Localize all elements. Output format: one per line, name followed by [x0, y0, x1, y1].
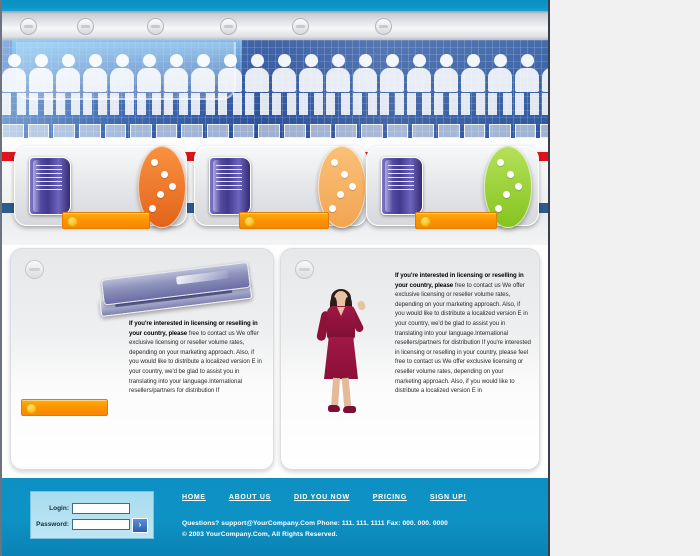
bullet-icon [26, 403, 37, 414]
top-toolbar [2, 11, 548, 41]
hero-box-row [2, 124, 548, 138]
product-cta-button-2[interactable] [239, 212, 329, 229]
panel-left-cta-button[interactable] [21, 399, 108, 416]
person-silhouette [488, 54, 512, 115]
woman-shoe-right [343, 406, 356, 413]
woman-leg-right [342, 378, 352, 408]
woman-shoe-left [328, 405, 340, 412]
login-row: Login: [35, 502, 130, 514]
footer-nav-link-1[interactable]: HOME [182, 494, 206, 501]
laptop-image [97, 262, 251, 324]
person-silhouette [461, 54, 485, 115]
panel-handle-icon[interactable] [25, 260, 44, 279]
website-frame: If you're interested in licensing or res… [0, 0, 550, 556]
page-root: If you're interested in licensing or res… [0, 0, 700, 556]
left-edge-border [0, 0, 2, 556]
woman-hand [357, 300, 367, 311]
person-silhouette [515, 54, 539, 115]
password-row: Password: [35, 518, 130, 530]
hero-box [335, 124, 357, 138]
panel-left-body: free to contact us We offer exclusive li… [129, 330, 262, 395]
panel-right-body: free to contact us We offer exclusive li… [395, 282, 531, 395]
site-footer: Login: Password: › HOMEABOUT USDID YOU N… [2, 478, 548, 556]
toolbar-button-1[interactable] [20, 18, 37, 35]
hero-box [53, 124, 75, 138]
hero-box [233, 124, 255, 138]
login-input[interactable] [72, 503, 130, 514]
businesswoman-image [311, 291, 371, 417]
hero-box [105, 124, 127, 138]
panel-right-text: If you're interested in licensing or res… [395, 271, 531, 396]
woman-leg-left [331, 378, 340, 408]
person-silhouette [353, 54, 377, 115]
product-cta-button-3[interactable] [415, 212, 497, 229]
bullet-icon [244, 216, 255, 227]
person-silhouette [407, 54, 431, 115]
person-silhouette [245, 54, 269, 115]
footer-nav: HOMEABOUT USDID YOU NOWPRICINGSIGN UP! [182, 494, 467, 501]
person-silhouette [272, 54, 296, 115]
hero-box [130, 124, 152, 138]
toolbar-button-2[interactable] [77, 18, 94, 35]
hero-box [28, 124, 50, 138]
hero-box [258, 124, 280, 138]
hero-box [515, 124, 537, 138]
hero-box [540, 124, 548, 138]
login-submit-button[interactable]: › [132, 518, 148, 533]
footer-nav-link-3[interactable]: DID YOU NOW [294, 494, 350, 501]
hero-box [181, 124, 203, 138]
hero-box [464, 124, 486, 138]
product-cta-button-1[interactable] [62, 212, 150, 229]
hero-box [79, 124, 101, 138]
server-image [209, 157, 251, 215]
toolbar-button-5[interactable] [292, 18, 309, 35]
hero-overlay-plate [16, 42, 236, 100]
hero-box [310, 124, 332, 138]
login-box: Login: Password: › [30, 491, 154, 539]
laptop-logo [176, 270, 229, 284]
panel-handle-icon[interactable] [295, 260, 314, 279]
person-silhouette [380, 54, 404, 115]
woman-skirt [324, 337, 358, 379]
toolbar-button-3[interactable] [147, 18, 164, 35]
top-accent-bar [2, 0, 548, 11]
server-image [381, 157, 423, 215]
hero-box [361, 124, 383, 138]
content-panel-right: If you're interested in licensing or res… [280, 248, 540, 470]
hero-box [207, 124, 229, 138]
hero-banner [2, 40, 548, 138]
toolbar-button-4[interactable] [220, 18, 237, 35]
password-input[interactable] [72, 519, 130, 530]
hero-box [412, 124, 434, 138]
footer-contact-line: Questions? support@YourCompany.Com Phone… [182, 520, 448, 527]
hero-box [438, 124, 460, 138]
server-image [29, 157, 71, 215]
person-silhouette [434, 54, 458, 115]
hero-box [2, 124, 24, 138]
hero-box [489, 124, 511, 138]
person-silhouette [542, 54, 548, 115]
footer-copyright-line: © 2003 YourCompany.Com, All Rights Reser… [182, 531, 338, 538]
bullet-icon [420, 216, 431, 227]
person-silhouette [299, 54, 323, 115]
hero-box [387, 124, 409, 138]
footer-nav-link-4[interactable]: PRICING [373, 494, 407, 501]
toolbar-button-6[interactable] [375, 18, 392, 35]
person-silhouette [326, 54, 350, 115]
login-label: Login: [35, 505, 69, 512]
bullet-icon [67, 216, 78, 227]
footer-nav-link-2[interactable]: ABOUT US [229, 494, 271, 501]
panel-left-text: If you're interested in licensing or res… [129, 319, 265, 396]
hero-box [156, 124, 178, 138]
password-label: Password: [35, 521, 69, 528]
footer-nav-link-5[interactable]: SIGN UP! [430, 494, 467, 501]
hero-box [284, 124, 306, 138]
content-panel-left: If you're interested in licensing or res… [10, 248, 274, 470]
